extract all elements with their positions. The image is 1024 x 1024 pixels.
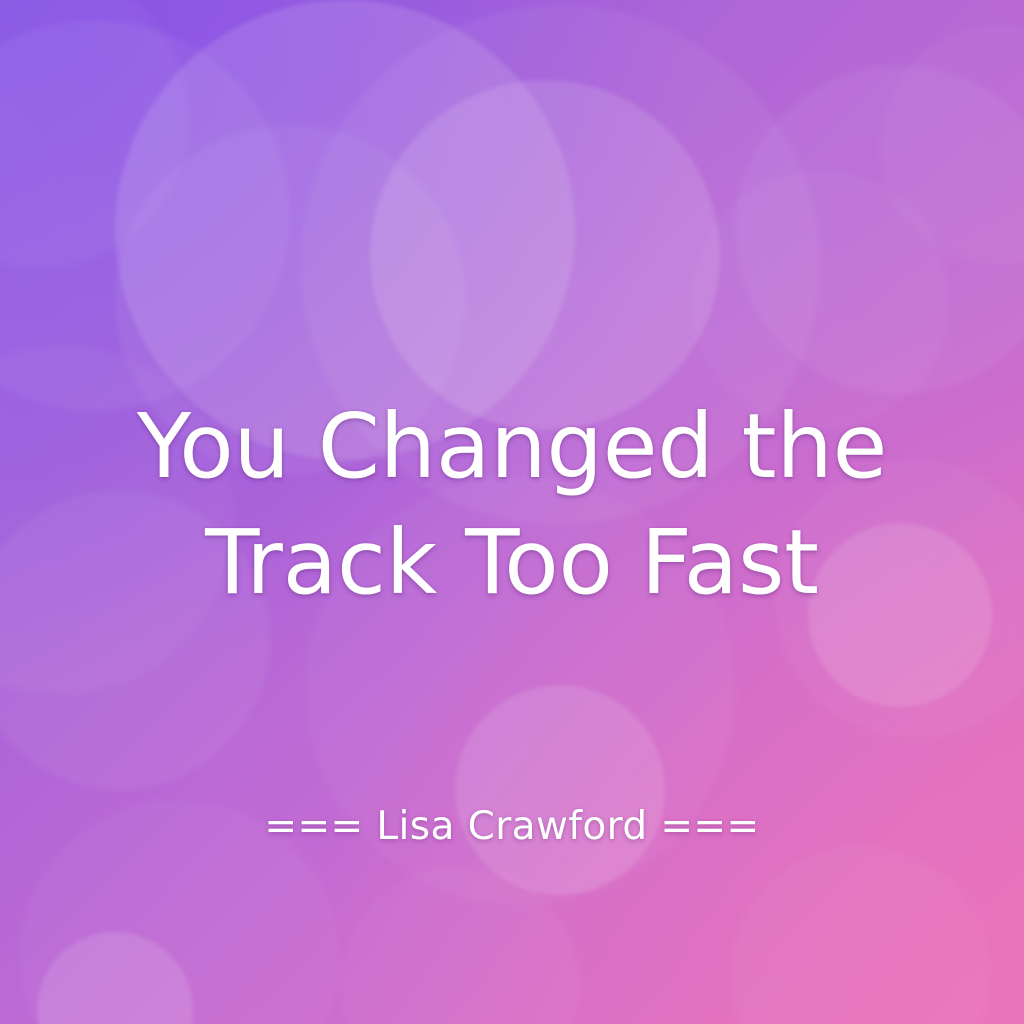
artist-credit: === Lisa Crawford === (0, 803, 1024, 851)
album-title: You Changed the Track Too Fast (0, 388, 1024, 620)
cover-text-block: You Changed the Track Too Fast === Lisa … (0, 0, 1024, 1024)
album-cover-artwork: You Changed the Track Too Fast === Lisa … (0, 0, 1024, 1024)
